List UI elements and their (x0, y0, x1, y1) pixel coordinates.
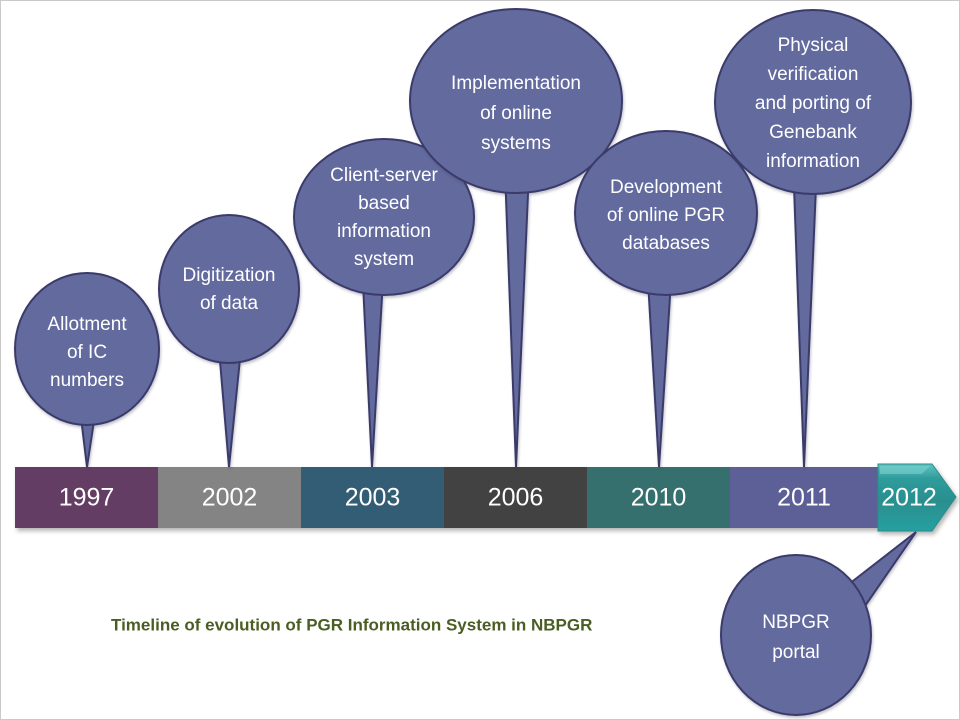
timeline-diagram-canvas: 1997 2002 2003 2006 2010 2011 (0, 0, 960, 720)
callout-line: NBPGR (762, 612, 830, 633)
timeline-segment-1997[interactable]: 1997 (15, 467, 158, 528)
timeline-segment-2012-arrow[interactable]: 2012 (878, 464, 956, 531)
timeline-year-label: 2006 (488, 484, 544, 512)
callout-line: Client-server (330, 165, 438, 186)
timeline-segment-2002[interactable]: 2002 (158, 467, 301, 528)
timeline-segment-2010[interactable]: 2010 (587, 467, 730, 528)
callout-line: of online PGR (607, 205, 725, 226)
callout-development-of-online-pgr-databases[interactable]: Development of online PGR databases (575, 131, 757, 467)
callout-allotment-of-ic-numbers[interactable]: Allotment of IC numbers (15, 273, 159, 467)
timeline-bar: 1997 2002 2003 2006 2010 2011 (15, 464, 956, 531)
timeline-year-label: 2010 (631, 484, 687, 512)
timeline-diagram-svg: 1997 2002 2003 2006 2010 2011 (1, 1, 960, 720)
callout-line: of data (200, 293, 259, 314)
callout-digitization-of-data[interactable]: Digitization of data (159, 215, 299, 467)
callout-line: based (358, 193, 410, 214)
callout-line: Physical (778, 35, 849, 56)
callout-line: Development (610, 177, 723, 198)
timeline-year-label: 2012 (881, 484, 937, 512)
callout-client-server-based-information-system[interactable]: Client-server based information system (294, 139, 474, 467)
callout-line: Allotment (47, 314, 127, 335)
timeline-segment-2011[interactable]: 2011 (730, 467, 878, 528)
callout-line: Implementation (451, 73, 581, 94)
callout-nbpgr-portal[interactable]: NBPGR portal (721, 532, 916, 715)
callout-line: verification (768, 64, 859, 85)
callout-bubbles: Allotment of IC numbers Digitization of … (15, 9, 916, 715)
callout-line: information (337, 221, 431, 242)
timeline-segment-2006[interactable]: 2006 (444, 467, 587, 528)
callout-line: Genebank (769, 122, 857, 143)
timeline-year-label: 2003 (345, 484, 401, 512)
callout-line: of online (480, 103, 552, 124)
callout-line: information (766, 151, 860, 172)
callout-line: and porting of (755, 93, 872, 114)
callout-line: system (354, 249, 414, 270)
timeline-segment-2003[interactable]: 2003 (301, 467, 444, 528)
callout-line: databases (622, 233, 710, 254)
diagram-caption: Timeline of evolution of PGR Information… (111, 615, 592, 634)
callout-line: of IC (67, 342, 107, 363)
callout-line: portal (772, 642, 820, 663)
callout-line: Digitization (183, 265, 276, 286)
callout-line: systems (481, 133, 551, 154)
callout-line: numbers (50, 370, 124, 391)
timeline-year-label: 2002 (202, 484, 258, 512)
timeline-year-label: 2011 (777, 484, 831, 512)
timeline-year-label: 1997 (59, 484, 115, 512)
